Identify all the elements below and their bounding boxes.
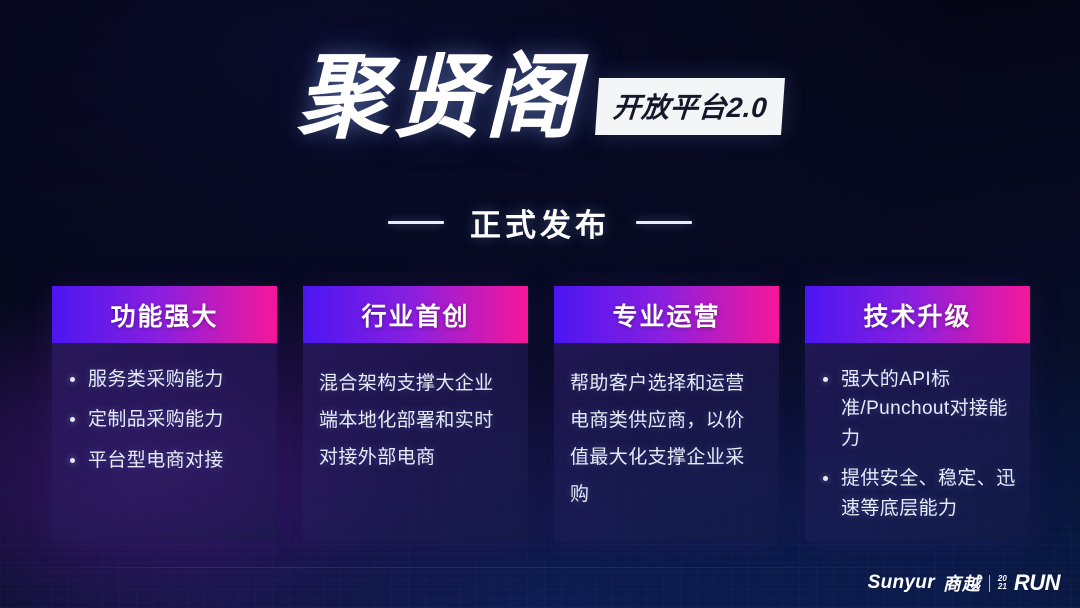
subtitle-rule-right [636, 221, 692, 224]
logo-run-wordmark: RUN [1014, 570, 1060, 596]
feature-card-2-paragraph: 混合架构支撑大企业端本地化部署和实时对接外部电商 [315, 365, 516, 476]
feature-card-2-title: 行业首创 [361, 297, 469, 333]
logo-brand-cn: 商越 [943, 570, 981, 596]
feature-card-1-title: 功能强大 [110, 297, 218, 333]
feature-card-1-body: 服务类采购能力 定制品采购能力 平台型电商对接 [52, 343, 277, 541]
feature-card-4[interactable]: 技术升级 强大的API标准/Punchout对接能力 提供安全、稳定、迅速等底层… [805, 286, 1030, 541]
feature-card-4-list: 强大的API标准/Punchout对接能力 提供安全、稳定、迅速等底层能力 [817, 365, 1018, 523]
feature-card-3-paragraph: 帮助客户选择和运营电商类供应商，以价值最大化支撑企业采购 [566, 365, 767, 513]
version-badge: 开放平台2.0 [595, 78, 785, 135]
feature-card-2-header: 行业首创 [303, 286, 528, 343]
list-item: 定制品采购能力 [64, 405, 265, 434]
brand-title: 聚贤阁 [297, 52, 579, 144]
subtitle-rule-left [388, 221, 444, 224]
subtitle-row: 正式发布 [0, 200, 1080, 245]
feature-card-4-title: 技术升级 [863, 297, 971, 333]
list-item: 平台型电商对接 [64, 446, 265, 475]
footer-logo: Sunyur 商越 20 21 RUN [868, 570, 1060, 596]
background-horizon-line [0, 567, 1080, 568]
logo-brand-en: Sunyur [868, 572, 935, 594]
logo-divider [989, 575, 990, 592]
feature-card-3[interactable]: 专业运营 帮助客户选择和运营电商类供应商，以价值最大化支撑企业采购 [554, 286, 779, 541]
list-item: 服务类采购能力 [64, 365, 265, 394]
feature-card-3-header: 专业运营 [554, 286, 779, 343]
feature-card-3-body: 帮助客户选择和运营电商类供应商，以价值最大化支撑企业采购 [554, 343, 779, 541]
feature-card-1-list: 服务类采购能力 定制品采购能力 平台型电商对接 [64, 365, 265, 475]
feature-card-1-header: 功能强大 [52, 286, 277, 343]
list-item: 提供安全、稳定、迅速等底层能力 [817, 464, 1018, 523]
feature-card-4-body: 强大的API标准/Punchout对接能力 提供安全、稳定、迅速等底层能力 [805, 343, 1030, 541]
feature-card-3-title: 专业运营 [612, 297, 720, 333]
feature-card-4-header: 技术升级 [805, 286, 1030, 343]
feature-card-2[interactable]: 行业首创 混合架构支撑大企业端本地化部署和实时对接外部电商 [303, 286, 528, 541]
logo-year-mark: 20 21 [998, 575, 1007, 592]
presentation-slide: 聚贤阁 开放平台2.0 正式发布 功能强大 服务类采购能力 定制品采购能力 平台… [0, 0, 1080, 608]
feature-card-2-body: 混合架构支撑大企业端本地化部署和实时对接外部电商 [303, 343, 528, 541]
feature-card-row: 功能强大 服务类采购能力 定制品采购能力 平台型电商对接 行业首创 混合架构支撑… [52, 286, 1030, 541]
subtitle-text: 正式发布 [470, 200, 610, 245]
list-item: 强大的API标准/Punchout对接能力 [817, 365, 1018, 453]
slide-header: 聚贤阁 开放平台2.0 [0, 52, 1080, 144]
feature-card-1[interactable]: 功能强大 服务类采购能力 定制品采购能力 平台型电商对接 [52, 286, 277, 541]
logo-year-bottom: 21 [998, 583, 1007, 591]
